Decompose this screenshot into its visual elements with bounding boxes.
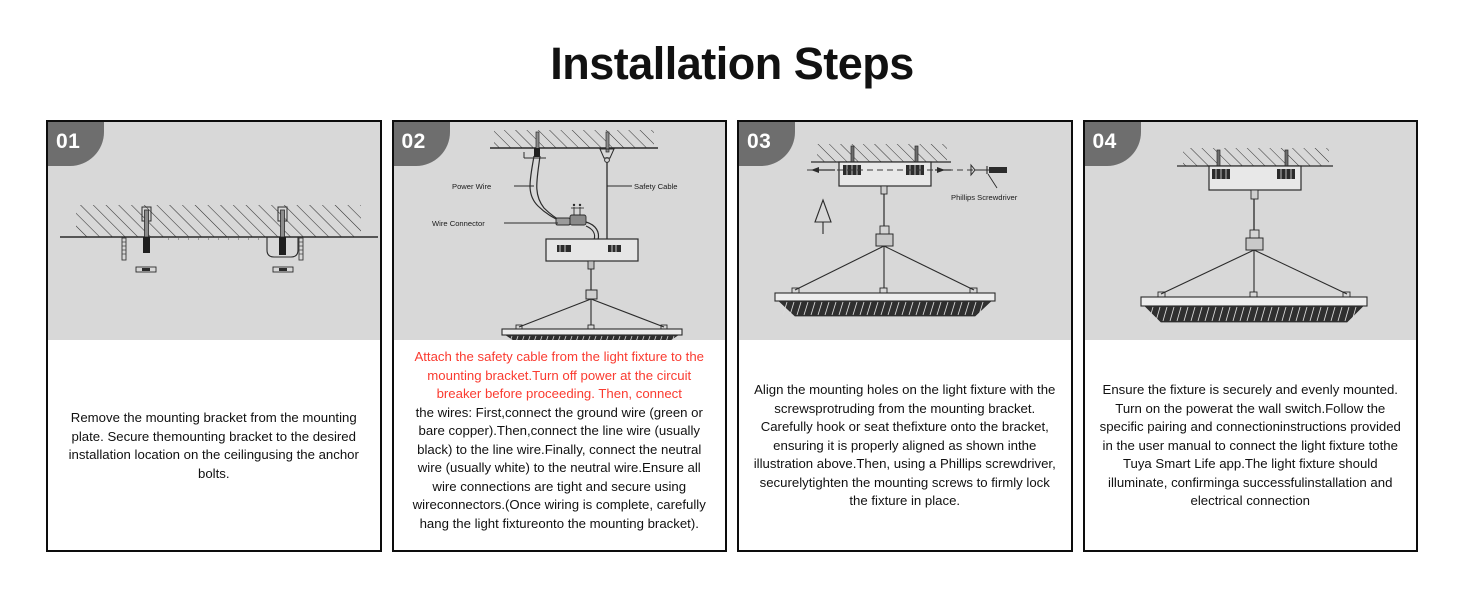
diagram-wiring-connections: Power Wire Safety Cable Wire Connector [394, 122, 726, 340]
step-03-illustration: 03 [739, 122, 1071, 340]
page-title: Installation Steps [0, 36, 1464, 92]
installation-guide-page: Installation Steps 01 [0, 0, 1464, 600]
steps-container: 01 [46, 120, 1418, 552]
step-01-caption-text: Remove the mounting bracket from the mou… [62, 409, 366, 483]
step-03-caption-text: Align the mounting holes on the light fi… [753, 381, 1057, 511]
step-02-caption-warning: Attach the safety cable from the light f… [408, 348, 712, 404]
step-04-caption: Ensure the fixture is securely and evenl… [1085, 340, 1417, 550]
step-panel-01: 01 [46, 120, 382, 552]
label-wire-connector: Wire Connector [432, 219, 485, 228]
label-safety-cable: Safety Cable [634, 182, 677, 191]
step-panel-04: 04 [1083, 120, 1419, 552]
step-01-caption: Remove the mounting bracket from the mou… [48, 340, 380, 550]
step-02-caption-text: the wires: First,connect the ground wire… [408, 404, 712, 534]
diagram-installed-fixture [1085, 122, 1417, 340]
diagram-mounting-screws: Phillips Screwdriver [739, 122, 1071, 340]
step-04-illustration: 04 [1085, 122, 1417, 340]
step-02-illustration: 02 [394, 122, 726, 340]
label-power-wire: Power Wire [452, 182, 491, 191]
step-panel-03: 03 [737, 120, 1073, 552]
diagram-ceiling-anchor-bolts [48, 122, 380, 340]
label-phillips-screwdriver: Phillips Screwdriver [951, 193, 1018, 202]
step-panel-02: 02 [392, 120, 728, 552]
step-03-caption: Align the mounting holes on the light fi… [739, 340, 1071, 550]
step-01-illustration: 01 [48, 122, 380, 340]
step-02-caption: Attach the safety cable from the light f… [394, 340, 726, 550]
step-04-caption-text: Ensure the fixture is securely and evenl… [1099, 381, 1403, 511]
